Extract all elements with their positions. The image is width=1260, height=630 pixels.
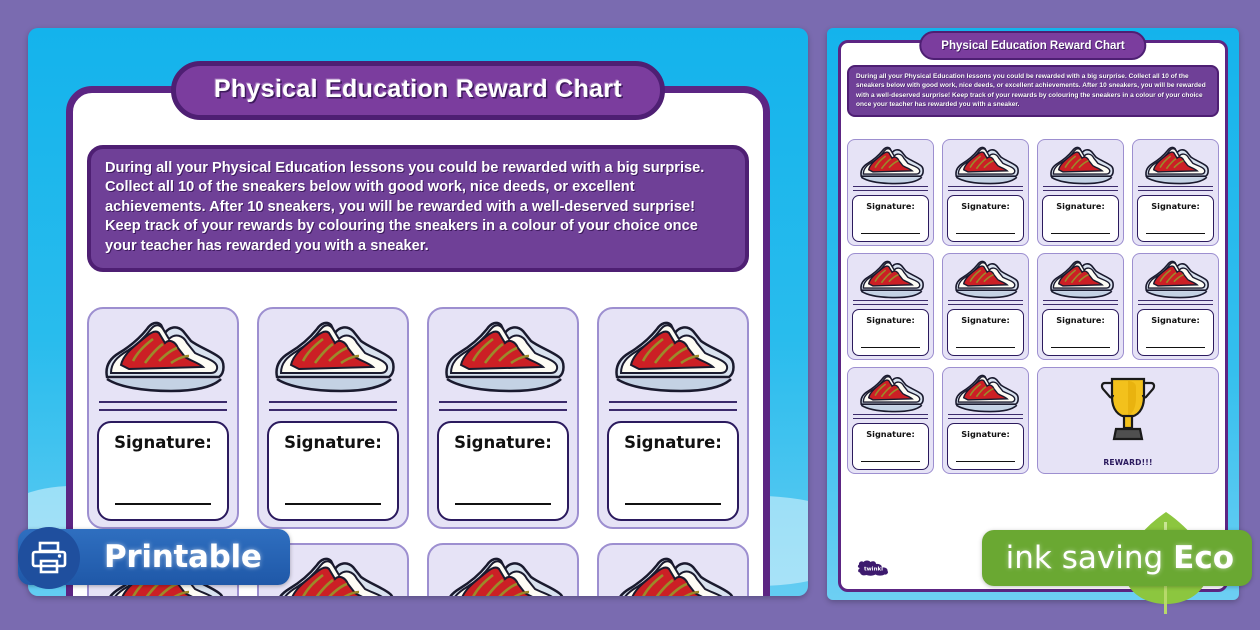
thumbnail-sneaker-card[interactable]: Signature: — [1132, 253, 1219, 360]
signature-line — [1146, 233, 1205, 235]
colouring-line — [609, 409, 737, 411]
sneaker-icon — [952, 372, 1020, 414]
sneaker-icon — [857, 258, 925, 300]
thumbnail-sneaker-area — [851, 371, 930, 423]
colouring-line — [1138, 300, 1213, 301]
thumbnail-sneaker-card[interactable]: Signature: — [847, 139, 934, 246]
colouring-line — [853, 300, 928, 301]
signature-line — [1146, 347, 1205, 349]
worksheet-page: Physical Education Reward Chart During a… — [66, 86, 770, 596]
signature-label: Signature: — [952, 315, 1019, 325]
sneaker-area — [605, 315, 741, 419]
thumbnail-sneaker-area — [851, 257, 930, 309]
sneaker-icon — [609, 553, 737, 596]
colouring-line — [853, 190, 928, 191]
signature-label: Signature: — [1142, 315, 1209, 325]
signature-line — [285, 503, 381, 506]
signature-label: Signature: — [1047, 315, 1114, 325]
sneaker-icon — [952, 144, 1020, 186]
colouring-line — [853, 418, 928, 419]
sneaker-icon — [269, 317, 397, 395]
thumbnail-sneaker-card[interactable]: Signature: — [942, 253, 1029, 360]
colouring-line — [1043, 186, 1118, 187]
thumbnail-sneaker-area — [1041, 143, 1120, 195]
svg-text:twinkl: twinkl — [864, 567, 883, 573]
thumbnail-sneaker-card-grid: Signature: — [847, 139, 1219, 474]
colouring-line — [439, 409, 567, 411]
eco-badge[interactable]: ink saving Eco — [982, 530, 1252, 586]
signature-box[interactable]: Signature: — [437, 421, 569, 521]
colouring-line — [439, 401, 567, 403]
signature-line — [625, 503, 721, 506]
thumbnail-signature-box[interactable]: Signature: — [947, 195, 1024, 242]
signature-label: Signature: — [449, 433, 557, 452]
printer-icon — [29, 540, 69, 576]
colouring-line — [1043, 304, 1118, 305]
colouring-line — [609, 401, 737, 403]
signature-line — [455, 503, 551, 506]
thumbnail-page-title-text: Physical Education Reward Chart — [941, 40, 1124, 52]
thumbnail-signature-box[interactable]: Signature: — [947, 309, 1024, 356]
colouring-line — [1138, 190, 1213, 191]
signature-line — [861, 347, 920, 349]
signature-line — [956, 461, 1015, 463]
signature-label: Signature: — [1047, 201, 1114, 211]
twinkl-logo-icon: twinkl — [855, 559, 893, 577]
eco-badge-label-secondary: Eco — [1173, 540, 1234, 576]
trophy-icon — [1098, 373, 1158, 445]
thumbnail-instructions-text: During all your Physical Education lesso… — [856, 72, 1210, 109]
sneaker-icon — [1142, 258, 1210, 300]
thumbnail-signature-box[interactable]: Signature: — [1137, 195, 1214, 242]
sneaker-card[interactable]: Signature: — [257, 307, 409, 529]
colouring-line — [948, 418, 1023, 419]
colouring-line — [948, 304, 1023, 305]
sneaker-area — [95, 315, 231, 419]
signature-label: Signature: — [952, 201, 1019, 211]
thumbnail-signature-box[interactable]: Signature: — [852, 195, 929, 242]
thumbnail-signature-box[interactable]: Signature: — [1137, 309, 1214, 356]
thumbnail-sneaker-card[interactable]: Signature: — [1037, 139, 1124, 246]
instructions-box: During all your Physical Education lesso… — [87, 145, 749, 272]
instructions-text: During all your Physical Education lesso… — [105, 159, 731, 256]
colouring-line — [948, 190, 1023, 191]
thumbnail-sneaker-card[interactable]: Signature: — [847, 367, 934, 474]
signature-box[interactable]: Signature: — [97, 421, 229, 521]
signature-label: Signature: — [857, 201, 924, 211]
colouring-line — [853, 186, 928, 187]
sneaker-area — [435, 551, 571, 596]
sneaker-icon — [952, 258, 1020, 300]
thumbnail-sneaker-area — [1041, 257, 1120, 309]
sneaker-area — [435, 315, 571, 419]
sneaker-icon — [439, 317, 567, 395]
signature-line — [1051, 347, 1110, 349]
colouring-line — [1043, 300, 1118, 301]
sneaker-icon — [1047, 258, 1115, 300]
colouring-line — [948, 414, 1023, 415]
colouring-line — [99, 409, 227, 411]
printer-icon-circle — [18, 527, 80, 589]
thumbnail-sneaker-area — [946, 143, 1025, 195]
colouring-line — [99, 401, 227, 403]
colouring-line — [269, 409, 397, 411]
sneaker-icon — [99, 317, 227, 395]
sneaker-card[interactable]: Signature: — [597, 307, 749, 529]
main-document-preview[interactable]: Physical Education Reward Chart During a… — [28, 28, 808, 596]
colouring-line — [1043, 190, 1118, 191]
signature-line — [956, 233, 1015, 235]
thumbnail-sneaker-card[interactable]: Signature: — [1132, 139, 1219, 246]
thumbnail-signature-box[interactable]: Signature: — [947, 423, 1024, 470]
signature-line — [861, 461, 920, 463]
thumbnail-signature-box[interactable]: Signature: — [852, 309, 929, 356]
reward-label: REWARD!!! — [1038, 458, 1218, 467]
thumbnail-sneaker-area — [1136, 143, 1215, 195]
signature-label: Signature: — [857, 429, 924, 439]
thumbnail-sneaker-card[interactable]: Signature: — [1037, 253, 1124, 360]
sneaker-icon — [1142, 144, 1210, 186]
thumbnail-sneaker-area — [1136, 257, 1215, 309]
thumbnail-sneaker-card[interactable]: Signature: — [942, 367, 1029, 474]
colouring-line — [948, 300, 1023, 301]
colouring-line — [948, 186, 1023, 187]
sneaker-card[interactable]: Signature: — [427, 543, 579, 596]
signature-label: Signature: — [1142, 201, 1209, 211]
thumbnail-sneaker-card[interactable]: Signature: — [942, 139, 1029, 246]
colouring-line — [853, 414, 928, 415]
signature-label: Signature: — [109, 433, 217, 452]
sneaker-card[interactable]: Signature: — [427, 307, 579, 529]
signature-label: Signature: — [952, 429, 1019, 439]
signature-box[interactable]: Signature: — [267, 421, 399, 521]
thumbnail-signature-box[interactable]: Signature: — [1042, 309, 1119, 356]
page-title: Physical Education Reward Chart — [171, 61, 665, 120]
printable-badge-label: Printable — [104, 539, 262, 575]
reward-card[interactable]: REWARD!!! — [1037, 367, 1219, 474]
thumbnail-sneaker-area — [946, 257, 1025, 309]
colouring-line — [1138, 186, 1213, 187]
thumbnail-sneaker-area — [946, 371, 1025, 423]
colouring-line — [853, 304, 928, 305]
thumbnail-sneaker-card[interactable]: Signature: — [847, 253, 934, 360]
signature-label: Signature: — [857, 315, 924, 325]
signature-label: Signature: — [279, 433, 387, 452]
thumbnail-signature-box[interactable]: Signature: — [852, 423, 929, 470]
colouring-line — [269, 401, 397, 403]
sneaker-area — [265, 315, 401, 419]
thumbnail-instructions-box: During all your Physical Education lesso… — [847, 65, 1219, 117]
signature-label: Signature: — [619, 433, 727, 452]
thumbnail-page-title: Physical Education Reward Chart — [919, 31, 1146, 60]
page-title-text: Physical Education Reward Chart — [214, 75, 622, 103]
sneaker-icon — [1047, 144, 1115, 186]
signature-line — [1051, 233, 1110, 235]
sneaker-card[interactable]: Signature: — [87, 307, 239, 529]
sneaker-icon — [857, 372, 925, 414]
eco-badge-label-primary: ink saving — [1006, 540, 1164, 576]
signature-box[interactable]: Signature: — [607, 421, 739, 521]
signature-line — [115, 503, 211, 506]
sneaker-icon — [439, 553, 567, 596]
sneaker-card[interactable]: Signature: — [597, 543, 749, 596]
sneaker-icon — [609, 317, 737, 395]
sneaker-area — [605, 551, 741, 596]
sneaker-icon — [857, 144, 925, 186]
signature-line — [956, 347, 1015, 349]
thumbnail-signature-box[interactable]: Signature: — [1042, 195, 1119, 242]
signature-line — [861, 233, 920, 235]
colouring-line — [1138, 304, 1213, 305]
thumbnail-sneaker-area — [851, 143, 930, 195]
